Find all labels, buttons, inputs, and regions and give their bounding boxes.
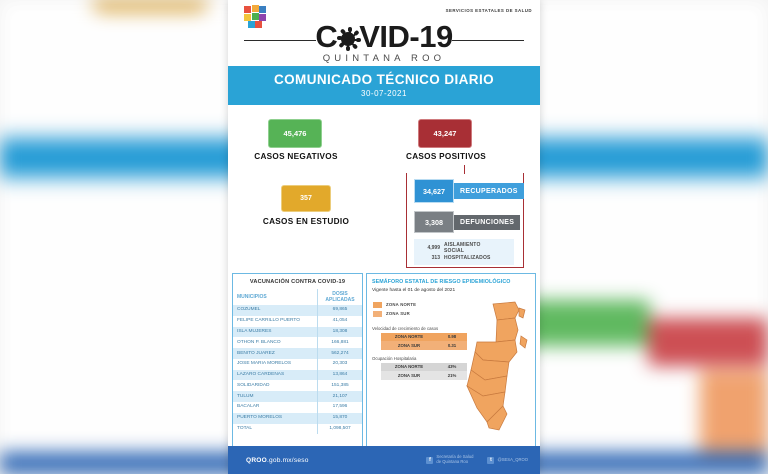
cases-under-study-label: CASOS EN ESTUDIO xyxy=(236,217,376,226)
deaths-label: DEFUNCIONES xyxy=(454,215,520,230)
facebook-link[interactable]: f Secretaría de Salud de Quintana Roo xyxy=(426,455,473,464)
semaforo-title: SEMÁFORO ESTATAL DE RIESGO EPIDEMIOLÓGIC… xyxy=(367,274,535,285)
recovered-pill: 34,627 RECUPERADOS xyxy=(414,179,524,203)
facebook-label: Secretaría de Salud de Quintana Roo xyxy=(436,455,473,464)
municipality-name: ISLA MUJERES xyxy=(233,327,317,338)
table-row: LAZARO CARDENAS13,864 xyxy=(233,370,362,381)
covid-report-poster: SERVICIOS ESTATALES DE SALUD CVID-19 QUI… xyxy=(228,0,540,474)
doses-applied: 69,865 xyxy=(317,305,362,316)
negative-cases-label: CASOS NEGATIVOS xyxy=(236,152,356,161)
table-row: TULUM21,107 xyxy=(233,391,362,402)
table-row: ZONA SUR21% xyxy=(381,371,467,380)
municipality-name: FELIPE CARRILLO PUERTO xyxy=(233,316,317,327)
table-row: SOLIDARIDAD151,385 xyxy=(233,380,362,391)
hospitalized-label: HOSPITALIZADOS xyxy=(444,255,491,261)
municipality-name: OTHON P. BLANCO xyxy=(233,337,317,348)
isolation-box: 4,999 AISLAMIENTO SOCIAL 313 HOSPITALIZA… xyxy=(414,239,514,265)
facebook-icon: f xyxy=(426,457,433,464)
poster-header: SERVICIOS ESTATALES DE SALUD CVID-19 QUI… xyxy=(228,0,540,66)
semaforo-panel: SEMÁFORO ESTATAL DE RIESGO EPIDEMIOLÓGIC… xyxy=(366,273,536,458)
recovered-value: 34,627 xyxy=(414,179,454,203)
vaccination-panel: VACUNACIÓN CONTRA COVID-19 MUNICIPIOS DO… xyxy=(232,273,363,458)
doses-applied: 18,308 xyxy=(317,327,362,338)
doses-applied: 20,303 xyxy=(317,359,362,370)
table-row: BENITO JUAREZ562,274 xyxy=(233,348,362,359)
positive-cases-label: CASOS POSITIVOS xyxy=(386,152,506,161)
municipality-name: PUERTO MORELOS xyxy=(233,413,317,424)
poster-title: CVID-19 xyxy=(315,22,452,52)
hospitalized-row: 313 HOSPITALIZADOS xyxy=(418,255,514,261)
table-header-row: MUNICIPIOS DOSIS APLICADAS xyxy=(233,289,362,305)
isolation-label-line2: SOCIAL xyxy=(444,248,464,254)
legend-swatch xyxy=(373,311,382,317)
poster-footer: QROO.gob.mx/seso f Secretaría de Salud d… xyxy=(228,446,540,474)
banner-title: COMUNICADO TÉCNICO DIARIO xyxy=(228,72,540,87)
municipality-name: TULUM xyxy=(233,391,317,402)
table-row: OTHON P. BLANCO166,881 xyxy=(233,337,362,348)
quintana-roo-map xyxy=(463,296,533,446)
twitter-handle: @SESA_QROO xyxy=(497,458,528,463)
doses-applied: 15,870 xyxy=(317,413,362,424)
isolation-label-line1: AISLAMIENTO xyxy=(444,242,481,248)
deaths-pill: 3,308 DEFUNCIONES xyxy=(414,211,520,233)
legend-swatch xyxy=(373,302,382,308)
negative-cases-value: 45,476 xyxy=(268,119,322,148)
table-row: JOSE MARIA MORELOS20,303 xyxy=(233,359,362,370)
doses-applied: 151,385 xyxy=(317,380,362,391)
coronavirus-icon xyxy=(337,28,359,50)
twitter-icon: t xyxy=(487,457,494,464)
bottom-panels: VACUNACIÓN CONTRA COVID-19 MUNICIPIOS DO… xyxy=(228,273,540,458)
twitter-link[interactable]: t @SESA_QROO xyxy=(487,457,528,464)
zone-name: ZONA SUR xyxy=(381,341,437,350)
doses-applied: 166,881 xyxy=(317,337,362,348)
deaths-value: 3,308 xyxy=(414,211,454,233)
zone-name: ZONA SUR xyxy=(381,371,437,380)
municipality-name: LAZARO CARDENAS xyxy=(233,370,317,381)
municipality-name: COZUMEL xyxy=(233,305,317,316)
isolation-label: AISLAMIENTO SOCIAL xyxy=(444,242,481,254)
occupancy-title: Ocupación Hospitalaria xyxy=(367,350,458,363)
health-services-label: SERVICIOS ESTATALES DE SALUD xyxy=(446,8,532,13)
website-label: QROO.gob.mx/seso xyxy=(246,457,309,464)
growth-table: ZONA NORTE0.98ZONA SUR0.31 xyxy=(381,333,467,350)
legend-label: ZONA NORTE xyxy=(386,302,416,307)
cases-under-study-value: 357 xyxy=(281,185,331,212)
website-path: .gob.mx/seso xyxy=(267,457,309,464)
column-header-doses: DOSIS APLICADAS xyxy=(317,289,362,305)
vaccination-title: VACUNACIÓN CONTRA COVID-19 xyxy=(233,274,362,289)
legend-label: ZONA SUR xyxy=(386,311,410,316)
statistics-section: 45,476 CASOS NEGATIVOS 43,247 CASOS POSI… xyxy=(228,105,540,273)
table-row: PUERTO MORELOS15,870 xyxy=(233,413,362,424)
doses-applied: 562,274 xyxy=(317,348,362,359)
doses-applied: 41,054 xyxy=(317,316,362,327)
growth-title: Velocidad de crecimiento de casos xyxy=(367,320,458,333)
social-links: f Secretaría de Salud de Quintana Roo t … xyxy=(426,455,528,464)
occupancy-table: ZONA NORTE43%ZONA SUR21% xyxy=(381,363,467,380)
table-row: ISLA MUJERES18,308 xyxy=(233,327,362,338)
isolation-row: 4,999 AISLAMIENTO SOCIAL xyxy=(418,242,514,254)
banner-date: 30-07-2021 xyxy=(228,89,540,98)
table-row: ZONA SUR0.31 xyxy=(381,341,467,350)
table-row: COZUMEL69,865 xyxy=(233,305,362,316)
doses-applied: 21,107 xyxy=(317,391,362,402)
hospitalized-value: 313 xyxy=(418,255,444,261)
semaforo-validity: Vigente hasta el 01 de agosto del 2021 xyxy=(367,285,535,293)
doses-applied: 13,864 xyxy=(317,370,362,381)
title-right: VID-19 xyxy=(359,19,452,54)
table-row: FELIPE CARRILLO PUERTO41,054 xyxy=(233,316,362,327)
isolation-value: 4,999 xyxy=(418,242,444,251)
table-row: ZONA NORTE0.98 xyxy=(381,333,467,342)
doses-applied: 1,098,507 xyxy=(317,424,362,435)
website-brand: QROO xyxy=(246,457,267,464)
table-row: ZONA NORTE43% xyxy=(381,363,467,372)
municipality-name: BENITO JUAREZ xyxy=(233,348,317,359)
poster-subtitle: QUINTANA ROO xyxy=(228,53,540,64)
daily-report-banner: COMUNICADO TÉCNICO DIARIO 30-07-2021 xyxy=(228,66,540,105)
municipality-name: JOSE MARIA MORELOS xyxy=(233,359,317,370)
facebook-label-line2: de Quintana Roo xyxy=(436,459,468,464)
table-row: BACALAR17,596 xyxy=(233,402,362,413)
positive-cases-value: 43,247 xyxy=(418,119,472,148)
doses-header-line2: APLICADAS xyxy=(325,297,354,303)
recovered-label: RECUPERADOS xyxy=(454,183,524,199)
title-left: C xyxy=(315,19,337,54)
zone-name: ZONA NORTE xyxy=(381,333,437,342)
table-row: TOTAL1,098,507 xyxy=(233,424,362,435)
doses-applied: 17,596 xyxy=(317,402,362,413)
municipality-name: TOTAL xyxy=(233,424,317,435)
municipality-name: SOLIDARIDAD xyxy=(233,380,317,391)
vaccination-table: MUNICIPIOS DOSIS APLICADAS COZUMEL69,865… xyxy=(233,289,362,434)
municipality-name: BACALAR xyxy=(233,402,317,413)
zone-name: ZONA NORTE xyxy=(381,363,437,372)
column-header-municipality: MUNICIPIOS xyxy=(233,289,317,305)
